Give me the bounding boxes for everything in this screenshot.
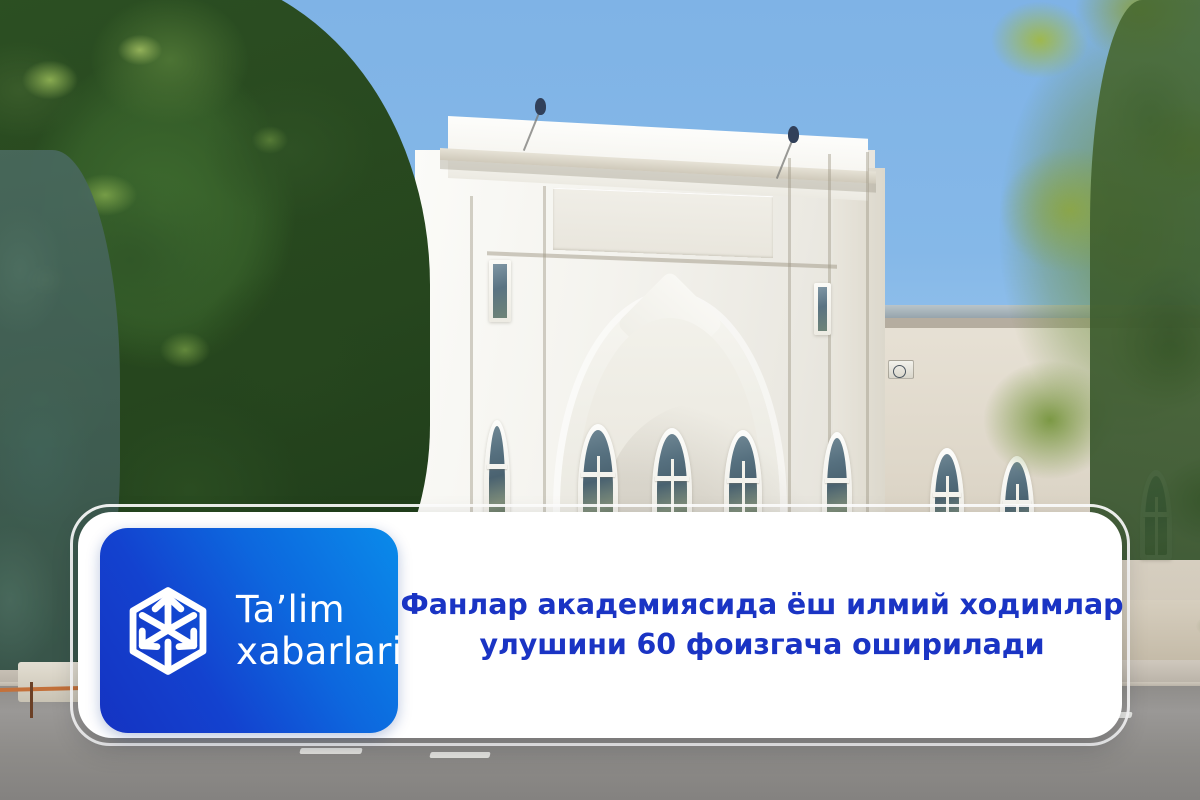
air-conditioner-unit [888,360,914,379]
facade-recessed-panel [553,188,773,258]
narrow-window [814,283,831,335]
narrow-window [489,260,511,322]
headline: Фанлар академиясида ёш илмий ходимлар ул… [412,512,1112,738]
brand-wordmark: Ta’lim xabarlari [236,589,402,672]
headline-line-1: Фанлар академиясида ёш илмий ходимлар [401,585,1124,625]
brand-line-2: xabarlari [236,631,402,672]
brand-badge[interactable]: Ta’lim xabarlari [100,528,398,733]
tree-right-far [1090,0,1200,560]
scene-stage: Ta’lim xabarlari Фанлар академиясида ёш … [0,0,1200,800]
cube-arrows-icon [122,585,214,677]
headline-line-2: улушини 60 фоизгача оширилади [479,625,1044,665]
brand-line-1: Ta’lim [236,589,402,630]
